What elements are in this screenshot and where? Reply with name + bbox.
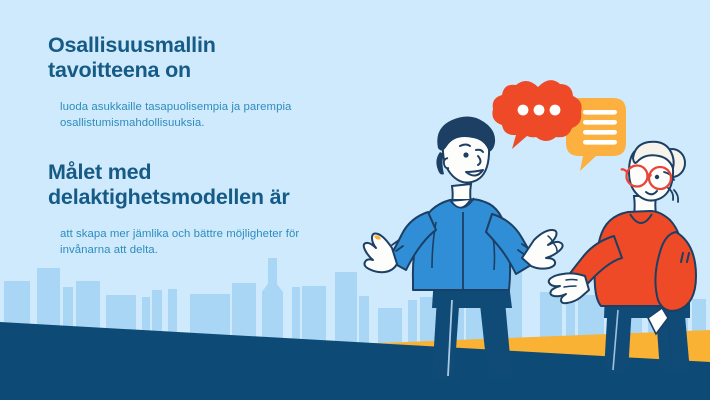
- finnish-body-line1: luoda asukkaille tasapuolisempia ja pare…: [60, 101, 291, 113]
- swedish-heading-line1: Målet med: [48, 160, 151, 184]
- finnish-heading-line1: Osallisuusmallin: [48, 33, 216, 57]
- finnish-heading-line2: tavoitteena on: [48, 58, 191, 82]
- swedish-body-line1: att skapa mer jämlika och bättre möjligh…: [60, 228, 299, 240]
- finnish-heading: Osallisuusmallin tavoitteena on: [48, 33, 348, 83]
- finnish-text-block: Osallisuusmallin tavoitteena on luoda as…: [48, 33, 348, 132]
- slide-canvas: Osallisuusmallin tavoitteena on luoda as…: [0, 0, 710, 400]
- swedish-heading: Målet med delaktighetsmodellen är: [48, 160, 368, 210]
- swedish-body-line2: invånarna att delta.: [60, 244, 158, 256]
- finnish-body-line2: osallistumismahdollisuuksia.: [60, 117, 204, 129]
- finnish-body: luoda asukkaille tasapuolisempia ja pare…: [60, 99, 348, 132]
- text-layer: Osallisuusmallin tavoitteena on luoda as…: [0, 0, 710, 400]
- swedish-heading-line2: delaktighetsmodellen är: [48, 185, 290, 209]
- swedish-body: att skapa mer jämlika och bättre möjligh…: [60, 226, 360, 259]
- swedish-text-block: Målet med delaktighetsmodellen är att sk…: [48, 160, 368, 259]
